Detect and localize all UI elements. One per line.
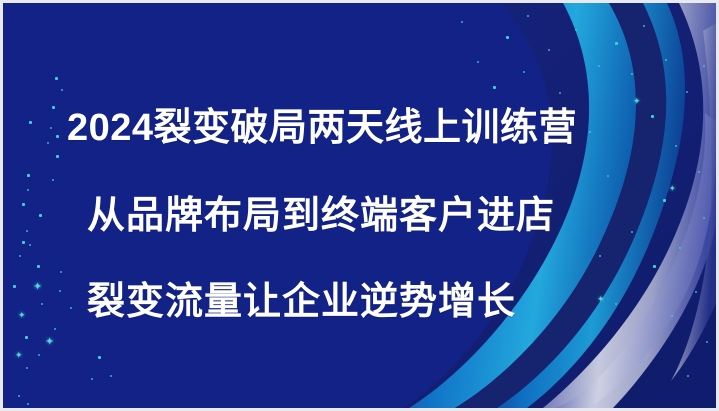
headline-line-2: 从品牌布局到终端客户进店 (87, 184, 555, 239)
headline-line-3: 裂变流量让企业逆势增长 (87, 270, 516, 325)
promo-banner: ✦✦✦✦✦✦✦ 2024裂变破局两天线上训练营 从品牌布局到终端客户进店 裂变流… (0, 0, 719, 411)
headline-line-1: 2024裂变破局两天线上训练营 (67, 96, 577, 151)
headline-group: 2024裂变破局两天线上训练营 从品牌布局到终端客户进店 裂变流量让企业逆势增长 (3, 3, 716, 408)
banner-canvas: ✦✦✦✦✦✦✦ 2024裂变破局两天线上训练营 从品牌布局到终端客户进店 裂变流… (3, 3, 716, 408)
